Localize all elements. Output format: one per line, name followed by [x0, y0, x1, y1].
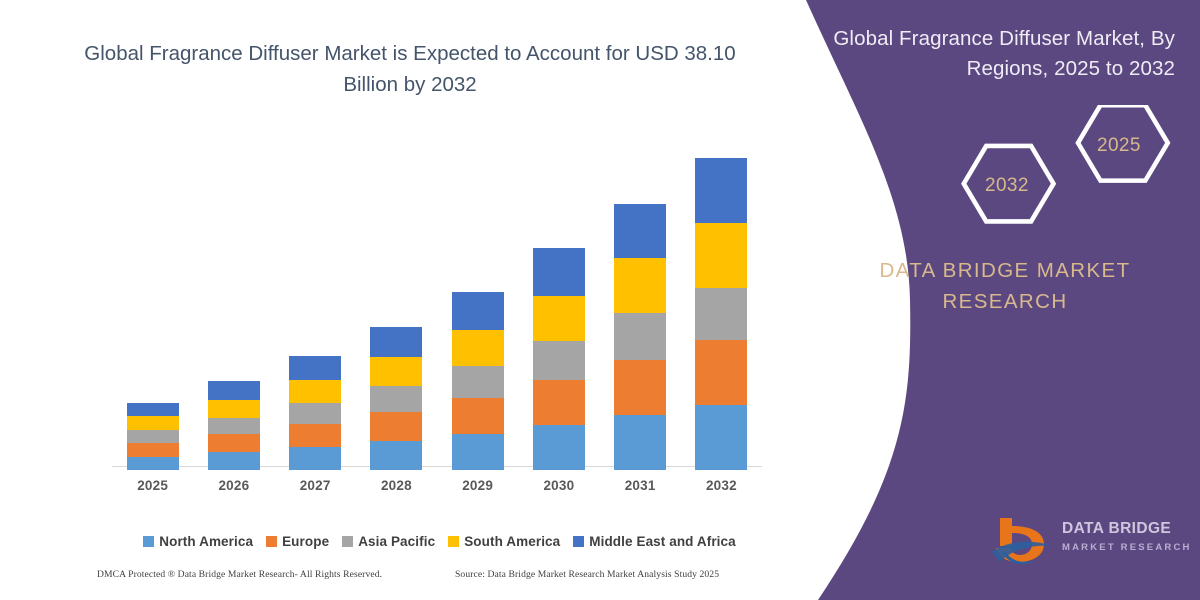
bar-segment-asia-pacific	[208, 418, 260, 434]
x-axis-label-2030: 2030	[524, 478, 594, 493]
bar-segment-asia-pacific	[289, 403, 341, 424]
legend-swatch-icon	[266, 536, 277, 547]
bar-segment-north-america	[533, 425, 585, 470]
bar-segment-asia-pacific	[452, 366, 504, 398]
bar-segment-europe	[208, 434, 260, 452]
bar-column-2030	[533, 248, 585, 470]
bar-segment-europe	[695, 340, 747, 405]
legend-item-south-america[interactable]: South America	[448, 534, 560, 549]
x-axis-label-2026: 2026	[199, 478, 269, 493]
legend-label: Europe	[282, 534, 329, 549]
bar-segment-south-america	[614, 258, 666, 313]
bar-segment-south-america	[370, 357, 422, 386]
bar-segment-north-america	[208, 452, 260, 470]
bar-chart-plot	[112, 140, 762, 470]
bar-column-2031	[614, 204, 666, 470]
bar-segment-north-america	[127, 457, 179, 470]
legend-swatch-icon	[143, 536, 154, 547]
legend-label: Asia Pacific	[358, 534, 435, 549]
hexagon-2032-label: 2032	[985, 175, 1029, 197]
legend-label: North America	[159, 534, 253, 549]
legend-swatch-icon	[573, 536, 584, 547]
bar-segment-europe	[370, 412, 422, 441]
bar-column-2028	[370, 327, 422, 470]
bar-segment-middle-east-and-africa	[289, 356, 341, 380]
bar-segment-south-america	[289, 380, 341, 403]
bar-column-2032	[695, 158, 747, 470]
bar-segment-south-america	[533, 296, 585, 341]
bar-segment-middle-east-and-africa	[695, 158, 747, 223]
panel-title: Global Fragrance Diffuser Market, By Reg…	[830, 24, 1175, 84]
bar-segment-north-america	[289, 447, 341, 470]
bar-column-2029	[452, 292, 504, 470]
legend-label: Middle East and Africa	[589, 534, 735, 549]
legend-item-europe[interactable]: Europe	[266, 534, 329, 549]
x-axis-label-2027: 2027	[280, 478, 350, 493]
chart-legend: North AmericaEuropeAsia PacificSouth Ame…	[112, 530, 767, 552]
source-text: Source: Data Bridge Market Research Mark…	[455, 569, 719, 580]
x-axis-label-2025: 2025	[118, 478, 188, 493]
bar-column-2025	[127, 403, 179, 470]
bar-segment-europe	[614, 360, 666, 415]
company-logo: DATA BRIDGE MARKET RESEARCH	[990, 512, 1195, 574]
brand-line-1: DATA BRIDGE MARKET	[879, 259, 1130, 282]
bar-segment-asia-pacific	[695, 288, 747, 340]
legend-swatch-icon	[448, 536, 459, 547]
logo-text: DATA BRIDGE MARKET RESEARCH	[1062, 520, 1192, 555]
x-axis-label-2028: 2028	[361, 478, 431, 493]
bar-segment-middle-east-and-africa	[370, 327, 422, 357]
bar-column-2027	[289, 356, 341, 470]
hexagon-2025-label: 2025	[1097, 135, 1141, 157]
bar-segment-asia-pacific	[614, 313, 666, 360]
logo-mark-icon	[990, 512, 1054, 570]
bar-segment-middle-east-and-africa	[208, 381, 260, 400]
legend-item-north-america[interactable]: North America	[143, 534, 253, 549]
copyright-text: DMCA Protected ® Data Bridge Market Rese…	[97, 569, 382, 580]
bar-segment-asia-pacific	[533, 341, 585, 380]
bar-segment-europe	[289, 424, 341, 447]
bar-segment-south-america	[695, 223, 747, 288]
bar-segment-asia-pacific	[370, 386, 422, 412]
bar-segment-europe	[127, 443, 179, 457]
bar-segment-middle-east-and-africa	[614, 204, 666, 258]
bar-segment-south-america	[208, 400, 260, 418]
page-title: Global Fragrance Diffuser Market is Expe…	[60, 38, 760, 100]
bar-segment-north-america	[370, 441, 422, 470]
year-hexagons: 2025 2032	[925, 105, 1195, 230]
bar-segment-south-america	[127, 416, 179, 430]
bar-segment-europe	[452, 398, 504, 434]
bar-segment-europe	[533, 380, 585, 425]
bar-segment-middle-east-and-africa	[127, 403, 179, 416]
legend-item-middle-east-and-africa[interactable]: Middle East and Africa	[573, 534, 735, 549]
brand-name: DATA BRIDGE MARKET RESEARCH	[830, 255, 1180, 317]
legend-item-asia-pacific[interactable]: Asia Pacific	[342, 534, 435, 549]
x-axis-label-2029: 2029	[443, 478, 513, 493]
bar-segment-south-america	[452, 330, 504, 366]
x-axis-label-2031: 2031	[605, 478, 675, 493]
x-axis-labels: 20252026202720282029203020312032	[112, 478, 762, 500]
legend-swatch-icon	[342, 536, 353, 547]
bar-segment-asia-pacific	[127, 430, 179, 443]
brand-line-2: RESEARCH	[942, 290, 1067, 313]
bar-segment-north-america	[614, 415, 666, 470]
bar-segment-middle-east-and-africa	[452, 292, 504, 330]
legend-label: South America	[464, 534, 560, 549]
bar-segment-north-america	[452, 434, 504, 470]
bar-segment-north-america	[695, 405, 747, 470]
x-axis-label-2032: 2032	[686, 478, 756, 493]
bar-segment-middle-east-and-africa	[533, 248, 585, 296]
bar-column-2026	[208, 381, 260, 470]
logo-text-line-2: MARKET RESEARCH	[1062, 541, 1192, 555]
logo-text-line-1: DATA BRIDGE	[1062, 520, 1192, 538]
